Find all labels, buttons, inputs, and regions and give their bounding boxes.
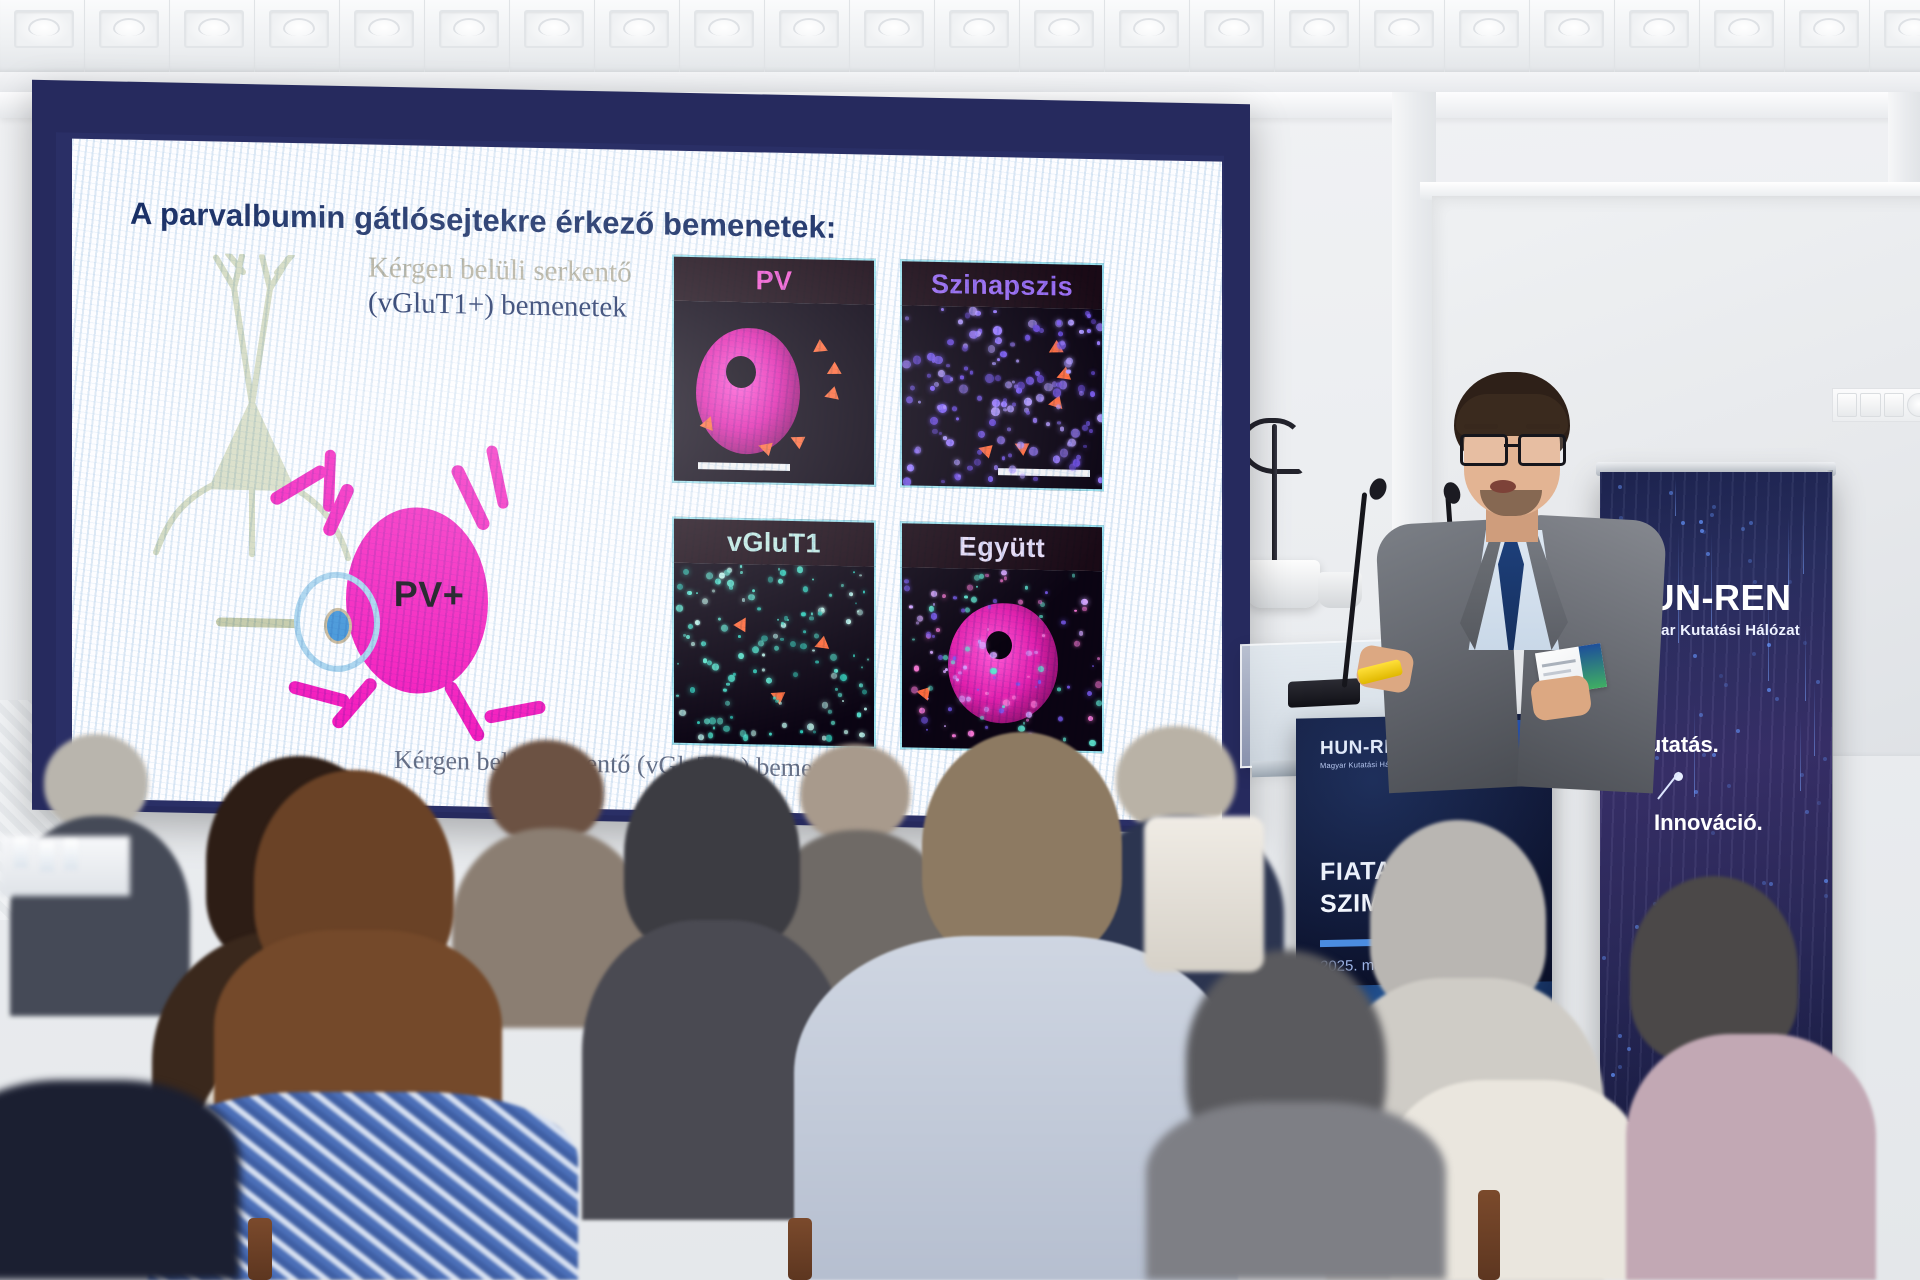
fluorescent-punctum: [723, 688, 727, 692]
fluorescent-punctum: [969, 331, 977, 340]
fluorescent-punctum: [958, 671, 962, 675]
banner-streak: [1803, 499, 1804, 574]
fluorescent-punctum: [938, 655, 943, 660]
micro-panel-label: Szinapszis: [931, 268, 1073, 302]
fluorescent-punctum: [719, 573, 724, 578]
fluorescent-punctum: [942, 594, 946, 598]
fluorescent-punctum: [842, 700, 844, 702]
fluorescent-punctum: [1038, 600, 1042, 604]
fluorescent-punctum: [1057, 321, 1061, 326]
fluorescent-punctum: [691, 642, 695, 646]
fluorescent-punctum: [1018, 600, 1023, 605]
fluorescent-punctum: [1034, 651, 1037, 654]
frieze-panel: [680, 0, 765, 72]
fluorescent-punctum: [958, 474, 961, 477]
fluorescent-punctum: [988, 605, 991, 608]
frieze-panel: [1700, 0, 1785, 72]
fluorescent-punctum: [909, 605, 912, 608]
fluorescent-punctum: [956, 417, 959, 420]
fluorescent-punctum: [913, 355, 922, 364]
fluorescent-punctum: [752, 589, 755, 592]
fluorescent-punctum: [932, 635, 935, 638]
fluorescent-punctum: [679, 710, 685, 717]
fluorescent-punctum: [1012, 380, 1015, 383]
fluorescent-punctum: [1036, 394, 1044, 402]
fluorescent-punctum: [1081, 599, 1087, 605]
micro-panel-label: vGluT1: [727, 526, 821, 559]
fluorescent-punctum: [790, 641, 796, 647]
micro-panel-label: PV: [756, 265, 793, 297]
scale-bar: [698, 462, 790, 471]
fluorescent-punctum: [758, 640, 764, 646]
wall-switch-icon[interactable]: [1884, 393, 1904, 417]
fluorescent-punctum: [992, 399, 1000, 407]
banner-dot: [1748, 559, 1752, 563]
fluorescent-punctum: [930, 417, 938, 425]
frieze-panel: [850, 0, 935, 72]
fluorescent-punctum: [696, 592, 698, 594]
fluorescent-punctum: [964, 595, 968, 599]
fluorescent-punctum: [954, 460, 960, 466]
fluorescent-punctum: [690, 687, 696, 693]
fluorescent-punctum: [677, 663, 679, 665]
fluorescent-punctum: [835, 688, 837, 690]
fluorescent-punctum: [930, 651, 933, 654]
synaptic-bouton: [324, 608, 352, 645]
banner-dot: [1749, 521, 1753, 525]
fluorescent-punctum: [738, 653, 744, 659]
annotation-arrow: [822, 386, 839, 403]
sconce-shade: [1246, 560, 1320, 608]
fluorescent-punctum: [864, 708, 867, 711]
fluorescent-punctum: [997, 436, 1005, 444]
fluorescent-punctum: [773, 634, 778, 639]
fluorescent-punctum: [927, 374, 931, 378]
fluorescent-punctum: [1090, 391, 1096, 397]
fluorescent-punctum: [990, 652, 997, 659]
frieze-panel: [1870, 0, 1920, 72]
empty-chair: [1144, 816, 1264, 972]
fluorescent-punctum: [943, 655, 948, 660]
ceiling-frieze: [0, 0, 1920, 72]
fluorescent-punctum: [1026, 336, 1030, 341]
fluorescent-punctum: [1091, 371, 1096, 376]
fluorescent-punctum: [712, 664, 719, 671]
pv-neuron-diagram: PV+: [268, 443, 588, 759]
slide-caption-block: Kérgen belüli serkentő (vGluT1+) bemenet…: [368, 251, 698, 328]
banner-dot: [1719, 674, 1723, 678]
fluorescent-punctum: [803, 587, 808, 593]
fluorescent-punctum: [1031, 701, 1038, 708]
fluorescent-punctum: [931, 613, 937, 619]
fluorescent-punctum: [964, 366, 968, 370]
badge-text-line: [1542, 659, 1576, 667]
eyeglass-bridge: [1504, 444, 1520, 447]
eyeglass-lens: [1460, 434, 1508, 466]
pv-dendrite: [287, 680, 350, 709]
fluorescent-punctum: [814, 634, 819, 639]
fluorescent-punctum: [1026, 712, 1032, 718]
fluorescent-punctum: [1016, 360, 1019, 363]
fluorescent-punctum: [1079, 391, 1084, 396]
slide-title: A parvalbumin gátlósejtekre érkező bemen…: [130, 196, 836, 246]
pv-dendrite: [268, 463, 329, 507]
frieze-panel: [1105, 0, 1190, 72]
fluorescent-punctum: [1038, 666, 1044, 672]
audience: [0, 720, 1920, 1280]
fluorescent-punctum: [1016, 682, 1019, 686]
pv-dendrite: [449, 463, 491, 532]
fluorescent-punctum: [859, 683, 863, 687]
fluorescent-punctum: [1037, 375, 1045, 383]
fluorescent-punctum: [742, 598, 746, 602]
fluorescent-punctum: [766, 678, 772, 684]
fluorescent-punctum: [906, 396, 913, 403]
fluorescent-punctum: [859, 574, 861, 576]
fluorescent-punctum: [1008, 453, 1012, 457]
wall-switch-icon[interactable]: [1860, 393, 1880, 417]
fluorescent-punctum: [977, 396, 982, 401]
fluorescent-punctum: [976, 585, 979, 588]
fluorescent-punctum: [1092, 665, 1094, 667]
fluorescent-punctum: [961, 609, 965, 613]
pv-dendrite: [485, 445, 509, 510]
fluorescent-punctum: [676, 605, 683, 612]
fluorescent-punctum: [1045, 591, 1048, 594]
fluorescent-punctum: [727, 580, 734, 587]
audience-head: [922, 732, 1122, 962]
water-glass: [14, 838, 28, 868]
banner-dot: [1741, 527, 1745, 531]
annotation-arrow: [733, 614, 752, 632]
fluorescent-punctum: [1086, 421, 1090, 425]
fluorescent-punctum: [740, 565, 742, 567]
fluorescent-punctum: [1001, 401, 1007, 407]
fluorescent-punctum: [926, 632, 932, 638]
fluorescent-punctum: [777, 619, 779, 621]
annotation-arrow: [823, 362, 841, 381]
fluorescent-punctum: [941, 480, 945, 484]
fluorescent-punctum: [757, 607, 761, 611]
banner-dot: [1681, 521, 1685, 525]
caption-line-2: (vGluT1+) bemenetek: [368, 286, 698, 328]
fluorescent-punctum: [762, 668, 765, 671]
fluorescent-punctum: [1025, 586, 1028, 590]
fluorescent-punctum: [841, 584, 844, 587]
fluorescent-punctum: [1058, 332, 1063, 337]
fluorescent-punctum: [914, 666, 919, 671]
fluorescent-punctum: [853, 655, 855, 657]
fluorescent-punctum: [965, 607, 971, 613]
fluorescent-punctum: [1033, 476, 1037, 481]
fluorescent-punctum: [752, 646, 759, 653]
fluorescent-punctum: [1026, 410, 1030, 414]
fluorescent-punctum: [1046, 422, 1050, 426]
fluorescent-punctum: [779, 702, 782, 705]
fluorescent-punctum: [753, 669, 757, 673]
sconce-arm: [1272, 424, 1277, 574]
annotation-arrow: [788, 431, 806, 449]
fluorescent-punctum: [830, 654, 837, 661]
fluorescent-punctum: [849, 592, 853, 597]
fluorescent-punctum: [1057, 421, 1061, 425]
fluorescent-punctum: [1003, 408, 1006, 411]
banner-dot: [1752, 652, 1756, 656]
fluorescent-punctum: [803, 630, 806, 633]
fluorescent-punctum: [1012, 695, 1016, 699]
fluorescent-punctum: [904, 579, 909, 584]
fluorescent-punctum: [688, 624, 693, 629]
fluorescent-punctum: [979, 642, 986, 649]
fluorescent-punctum: [774, 646, 779, 651]
frieze-panel: [0, 0, 85, 72]
fluorescent-punctum: [703, 659, 707, 663]
fluorescent-punctum: [863, 591, 865, 593]
frieze-panel: [1785, 0, 1870, 72]
fluorescent-punctum: [917, 615, 923, 621]
fluorescent-punctum: [683, 569, 689, 575]
fluorescent-punctum: [1029, 447, 1038, 456]
fluorescent-punctum: [947, 339, 953, 345]
fluorescent-punctum: [930, 386, 935, 391]
fluorescent-punctum: [953, 596, 956, 599]
micro-panel-synapse: Szinapszis: [900, 259, 1104, 491]
fluorescent-punctum: [927, 698, 929, 700]
micro-panel-vglut1: vGluT1: [672, 517, 876, 749]
frieze-panel: [85, 0, 170, 72]
fluorescent-punctum: [1012, 402, 1016, 406]
pv-soma-signal: [696, 327, 800, 455]
frieze-panel: [1275, 0, 1360, 72]
micro-panel-header: Együtt: [900, 521, 1104, 571]
pv-dendrite: [323, 449, 336, 512]
fluorescent-punctum: [958, 320, 963, 325]
fluorescent-punctum: [995, 375, 1001, 381]
micro-panel-header: vGluT1: [672, 517, 876, 567]
fluorescent-punctum: [1001, 570, 1006, 575]
fluorescent-punctum: [905, 316, 909, 320]
wall-socket-strip[interactable]: [1832, 388, 1920, 422]
fluorescent-punctum: [1060, 427, 1064, 431]
annotation-arrow: [1047, 395, 1063, 411]
fluorescent-punctum: [952, 406, 957, 411]
fluorescent-punctum: [970, 371, 974, 375]
wall-switch-icon[interactable]: [1837, 393, 1857, 417]
banner-dot: [1693, 654, 1697, 658]
eyeglasses-icon: [1460, 434, 1564, 460]
fluorescent-punctum: [1057, 687, 1061, 691]
fluorescent-punctum: [1007, 428, 1011, 432]
fluorescent-punctum: [987, 628, 990, 631]
fluorescent-punctum: [812, 649, 814, 651]
banner-dot: [1706, 552, 1710, 556]
speaker-eyebrow: [1526, 424, 1560, 429]
fluorescent-punctum: [965, 313, 970, 318]
fluorescent-punctum: [912, 638, 914, 641]
fluorescent-punctum: [1082, 425, 1088, 432]
fluorescent-punctum: [995, 337, 1002, 344]
fluorescent-punctum: [988, 345, 996, 353]
fluorescent-punctum: [1089, 429, 1093, 433]
frieze-panel: [765, 0, 850, 72]
micro-panel-label: Együtt: [959, 531, 1045, 564]
fluorescent-punctum: [780, 570, 786, 576]
fluorescent-punctum: [919, 708, 925, 714]
micro-panel-image: [672, 301, 876, 487]
fluorescent-punctum: [931, 591, 936, 596]
fluorescent-punctum: [907, 464, 914, 471]
frieze-panel: [1445, 0, 1530, 72]
fluorescent-punctum: [1033, 325, 1040, 332]
fluorescent-punctum: [818, 611, 823, 616]
fluorescent-punctum: [989, 419, 996, 426]
fluorescent-punctum: [702, 598, 708, 604]
fluorescent-punctum: [1038, 680, 1042, 684]
fluorescent-punctum: [928, 686, 934, 692]
fluorescent-punctum: [941, 308, 944, 311]
fluorescent-punctum: [1053, 456, 1061, 464]
fluorescent-punctum: [730, 716, 733, 719]
fluorescent-punctum: [1066, 369, 1070, 373]
fluorescent-punctum: [932, 429, 938, 435]
fluorescent-punctum: [946, 364, 949, 368]
water-glass: [64, 840, 78, 870]
fluorescent-punctum: [1004, 577, 1007, 580]
fluorescent-punctum: [936, 628, 940, 632]
fluorescent-punctum: [965, 647, 970, 652]
fluorescent-punctum: [929, 606, 934, 611]
fluorescent-punctum: [985, 374, 994, 383]
fluorescent-punctum: [1087, 314, 1091, 318]
microphone-base: [1288, 678, 1360, 708]
fluorescent-punctum: [781, 622, 783, 624]
fluorescent-punctum: [994, 465, 999, 470]
incoming-axon: [216, 617, 300, 628]
fluorescent-punctum: [1097, 414, 1104, 423]
fluorescent-punctum: [676, 694, 679, 697]
frieze-panel: [255, 0, 340, 72]
fluorescent-punctum: [977, 688, 979, 690]
fluorescent-punctum: [822, 702, 829, 709]
frieze-panel: [1615, 0, 1700, 72]
fluorescent-punctum: [1002, 457, 1005, 460]
fluorescent-punctum: [840, 674, 847, 681]
fluorescent-punctum: [1016, 388, 1022, 394]
frieze-panel: [425, 0, 510, 72]
fluorescent-punctum: [855, 602, 857, 604]
fluorescent-punctum: [738, 635, 741, 638]
fluorescent-punctum: [966, 697, 971, 702]
fluorescent-punctum: [962, 345, 968, 351]
fluorescent-punctum: [993, 326, 1002, 335]
fluorescent-punctum: [1096, 700, 1102, 706]
speaker-mouth: [1490, 480, 1516, 493]
micro-panel-merged: Együtt: [900, 521, 1104, 753]
fluorescent-punctum: [1068, 438, 1076, 446]
banner-streak: [1805, 628, 1806, 701]
fluorescent-punctum: [748, 594, 755, 601]
fluorescent-punctum: [978, 430, 985, 438]
fluorescent-punctum: [951, 660, 955, 664]
fluorescent-punctum: [707, 660, 712, 665]
fluorescent-punctum: [1079, 631, 1083, 636]
micro-panel-pv: PV: [672, 255, 876, 487]
fluorescent-punctum: [1053, 389, 1061, 397]
annotation-arrow: [756, 439, 772, 456]
fluorescent-punctum: [725, 701, 730, 706]
fluorescent-punctum: [812, 578, 814, 580]
fluorescent-punctum: [993, 310, 997, 314]
fluorescent-punctum: [960, 376, 963, 379]
conference-photo: A parvalbumin gátlósejtekre érkező bemen…: [0, 0, 1920, 1280]
fluorescent-punctum: [846, 619, 850, 623]
fluorescent-punctum: [1096, 323, 1104, 331]
frieze-panel: [1360, 0, 1445, 72]
water-glass: [40, 842, 54, 872]
fluorescent-punctum: [1060, 449, 1069, 458]
fluorescent-punctum: [918, 401, 921, 404]
fluorescent-punctum: [677, 584, 683, 591]
fluorescent-punctum: [1079, 329, 1084, 334]
micro-panel-header: PV: [672, 255, 876, 305]
fluorescent-punctum: [784, 616, 788, 620]
fluorescent-punctum: [780, 638, 783, 642]
fluorescent-punctum: [1073, 459, 1080, 466]
fluorescent-punctum: [1024, 398, 1032, 406]
fluorescent-punctum: [831, 673, 837, 679]
fluorescent-punctum: [993, 599, 997, 603]
frieze-panel: [935, 0, 1020, 72]
fluorescent-punctum: [1020, 474, 1025, 479]
fluorescent-punctum: [1000, 351, 1007, 358]
fluorescent-punctum: [1061, 620, 1066, 625]
fluorescent-punctum: [701, 641, 707, 647]
fluorescent-punctum: [977, 449, 982, 454]
fluorescent-punctum: [801, 612, 806, 617]
fluorescent-punctum: [1033, 418, 1038, 423]
audience-body: [1146, 1102, 1446, 1280]
chair-back: [248, 1218, 272, 1280]
fluorescent-punctum: [815, 661, 818, 664]
fluorescent-punctum: [910, 385, 915, 390]
fluorescent-punctum: [1017, 442, 1024, 449]
audience-body: [1626, 1034, 1876, 1280]
fluorescent-punctum: [971, 596, 977, 602]
fluorescent-punctum: [1071, 429, 1080, 438]
fluorescent-punctum: [992, 362, 995, 365]
fluorescent-punctum: [904, 585, 910, 591]
fluorescent-punctum: [967, 465, 972, 471]
fluorescent-punctum: [967, 584, 973, 590]
fluorescent-punctum: [1026, 651, 1031, 656]
fluorescent-punctum: [997, 358, 1000, 361]
fluorescent-punctum: [1052, 381, 1058, 387]
fluorescent-punctum: [911, 686, 918, 693]
fluorescent-punctum: [1026, 377, 1034, 385]
microscopy-panel-grid: PV Szina: [672, 255, 1112, 784]
fluorescent-punctum: [853, 571, 855, 573]
audience-head: [800, 744, 910, 842]
frieze-panel: [340, 0, 425, 72]
speaker-hair-front: [1456, 394, 1568, 436]
fluorescent-punctum: [932, 359, 936, 363]
fluorescent-punctum: [768, 577, 773, 582]
fluorescent-punctum: [903, 478, 911, 486]
fluorescent-punctum: [1027, 675, 1030, 678]
chair-back: [788, 1218, 812, 1280]
wall-outlet-icon[interactable]: [1907, 393, 1920, 417]
fluorescent-punctum: [1087, 329, 1092, 334]
